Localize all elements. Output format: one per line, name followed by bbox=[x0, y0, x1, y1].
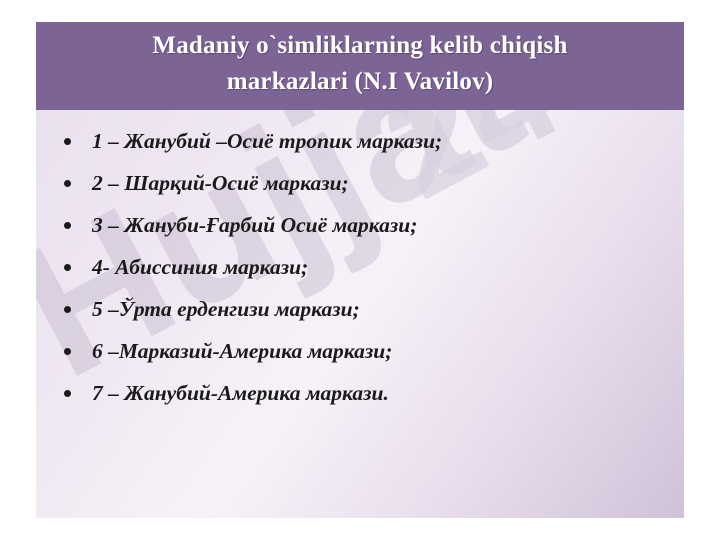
bullet-dot-icon bbox=[64, 390, 71, 397]
list-item-label: 7 – Жанубий-Америка маркази. bbox=[92, 381, 389, 405]
list-item: 1 – Жанубий –Осиё тропик маркази; bbox=[36, 126, 684, 156]
bullet-dot-icon bbox=[64, 222, 71, 229]
list-item: 6 –Марказий-Америка маркази; bbox=[36, 336, 684, 366]
slide-title: Madaniy o`simliklarning kelib chiqish ma… bbox=[60, 28, 660, 100]
bullet-dot-icon bbox=[64, 264, 71, 271]
list-item: 3 – Жануби-Ғарбий Осиё маркази; bbox=[36, 210, 684, 240]
list-item-label: 3 – Жануби-Ғарбий Осиё маркази; bbox=[92, 213, 417, 237]
bullet-dot-icon bbox=[64, 138, 71, 145]
list-item: 2 – Шарқий-Осиё маркази; bbox=[36, 168, 684, 198]
list-item-label: 1 – Жанубий –Осиё тропик маркази; bbox=[92, 129, 442, 153]
list-item: 7 – Жанубий-Америка маркази. bbox=[36, 378, 684, 408]
list-item-label: 5 –Ўрта ерденгизи маркази; bbox=[92, 297, 360, 321]
bullet-dot-icon bbox=[64, 180, 71, 187]
list-item: 5 –Ўрта ерденгизи маркази; bbox=[36, 294, 684, 324]
slide-title-line-1: Madaniy o`simliklarning kelib chiqish bbox=[60, 28, 660, 64]
slide-title-line-2: markazlari (N.I Vavilov) bbox=[60, 64, 660, 100]
bullet-dot-icon bbox=[64, 348, 71, 355]
slide-title-band: Madaniy o`simliklarning kelib chiqish ma… bbox=[36, 22, 684, 110]
slide-body: 1 – Жанубий –Осиё тропик маркази; 2 – Ша… bbox=[36, 110, 684, 518]
slide: Hujjat 24 Madaniy o`simliklarning kelib … bbox=[36, 22, 684, 518]
list-item-label: 2 – Шарқий-Осиё маркази; bbox=[92, 171, 349, 195]
bullet-dot-icon bbox=[64, 306, 71, 313]
list-item-label: 6 –Марказий-Америка маркази; bbox=[92, 339, 392, 363]
list-item-label: 4- Абиссиния маркази; bbox=[92, 255, 308, 279]
list-item: 4- Абиссиния маркази; bbox=[36, 252, 684, 282]
bullet-list: 1 – Жанубий –Осиё тропик маркази; 2 – Ша… bbox=[36, 110, 684, 408]
